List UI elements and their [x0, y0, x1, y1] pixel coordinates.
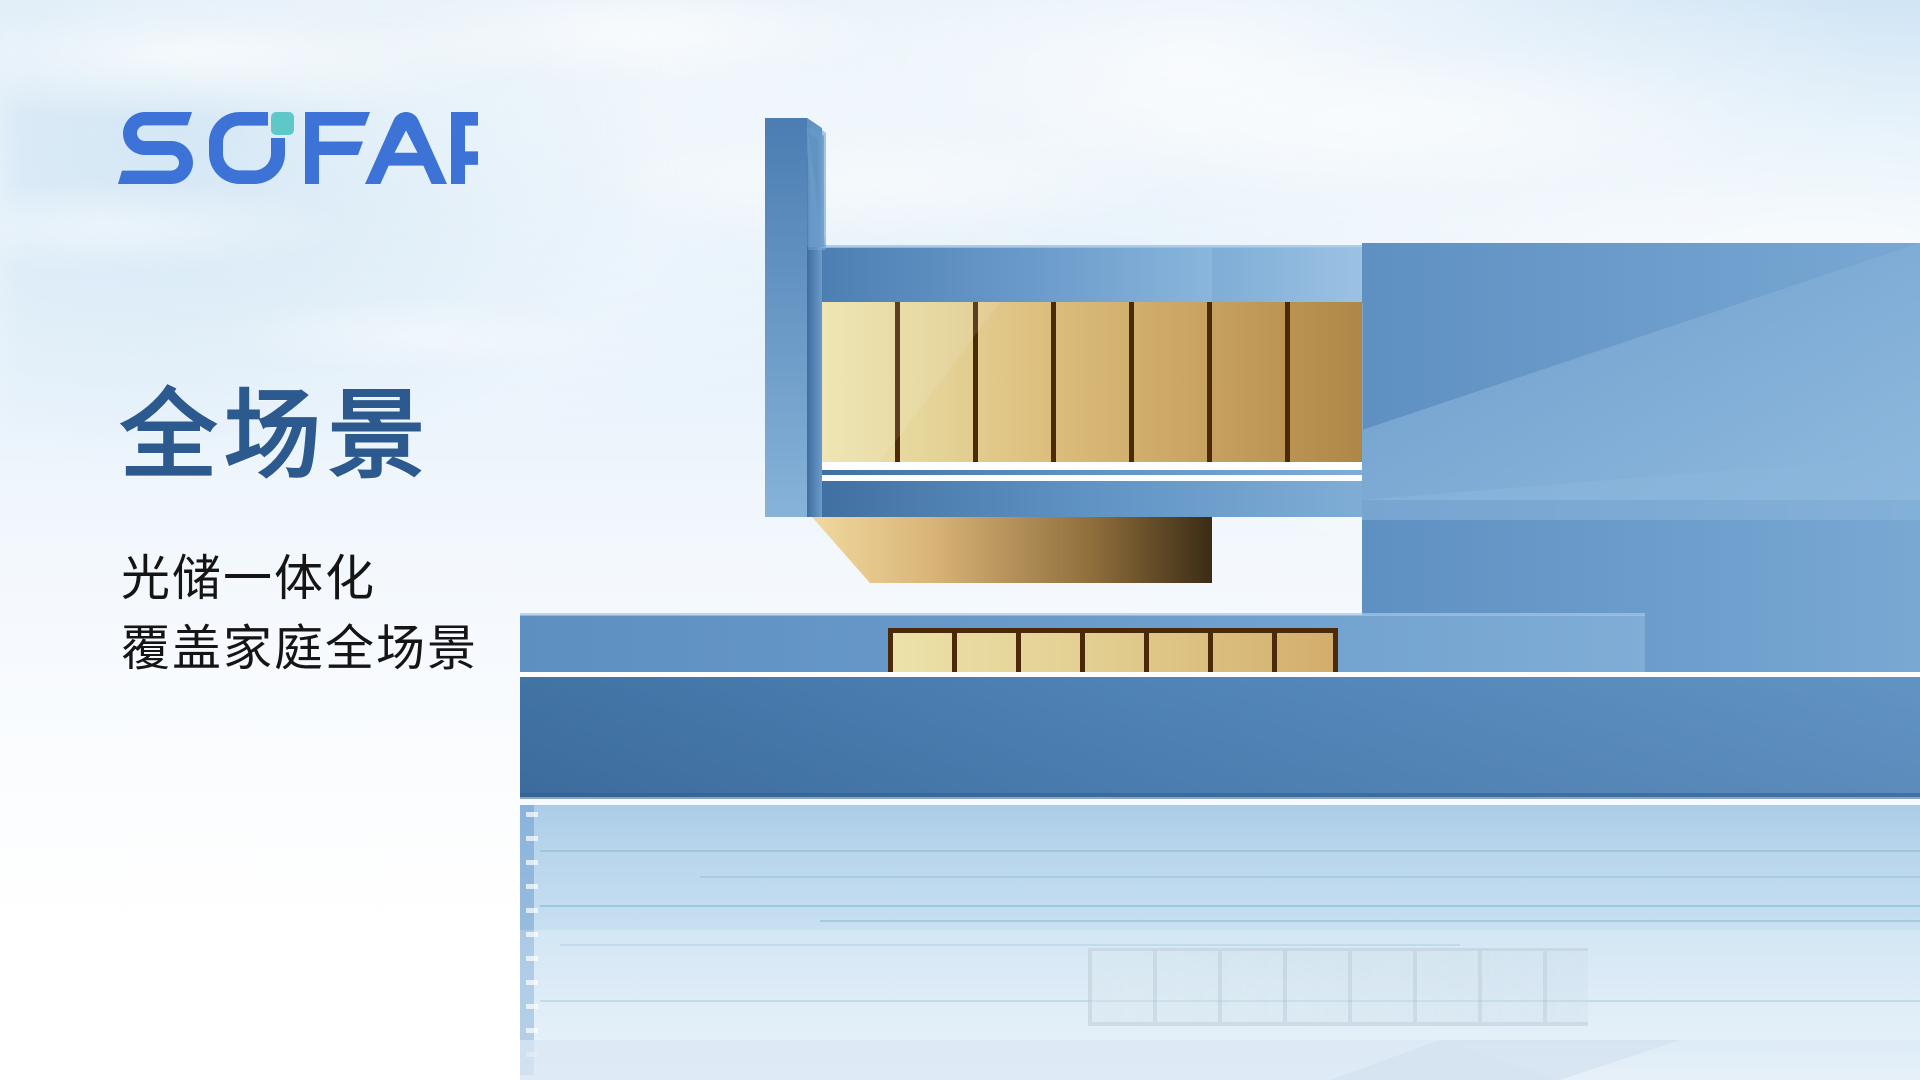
base-slab — [520, 672, 1920, 799]
water-reflection — [520, 799, 1920, 1080]
mid-floor-band — [806, 462, 1362, 517]
subtitle: 光储一体化 覆盖家庭全场景 — [121, 545, 478, 684]
subtitle-line-2: 覆盖家庭全场景 — [121, 615, 478, 685]
sofar-logo: SOFAR — [118, 108, 478, 188]
soffit-band — [812, 517, 1212, 583]
subtitle-line-1: 光储一体化 — [121, 545, 478, 615]
logo-accent-square — [271, 112, 294, 135]
reflected-panel-row — [1088, 948, 1588, 1026]
upper-volume — [818, 245, 1362, 462]
hero-banner: SOFAR 全场景 光储一体化 — [0, 0, 1920, 1080]
right-wing-block — [1362, 243, 1920, 672]
lower-gold-panel-row — [888, 628, 1338, 672]
page-title: 全场景 — [120, 385, 432, 487]
